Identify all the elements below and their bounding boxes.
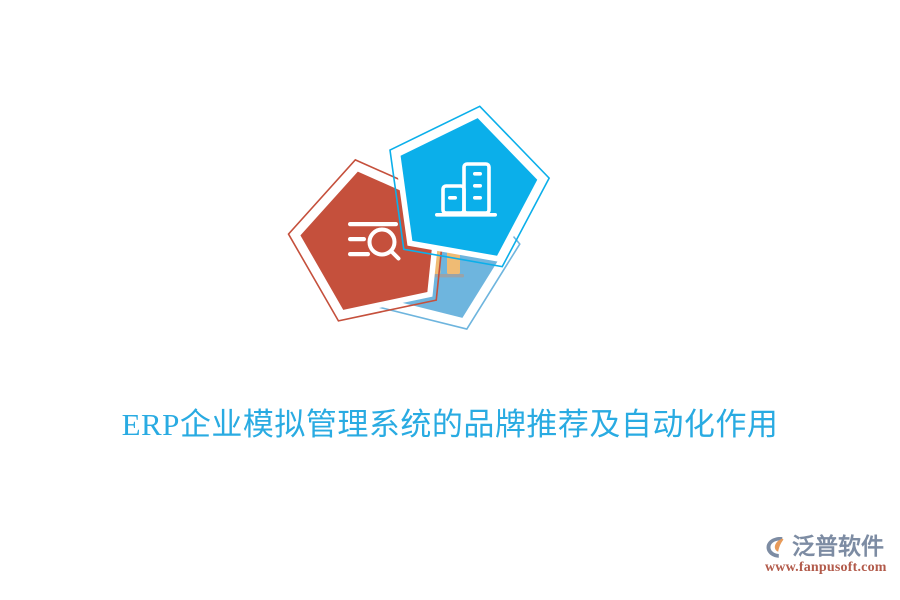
hero-graphic xyxy=(285,95,605,415)
page-canvas: ERP企业模拟管理系统的品牌推荐及自动化作用 泛普软件 www.fanpusof… xyxy=(0,0,900,600)
watermark-brand-row: 泛普软件 xyxy=(762,532,884,562)
watermark-url: www.fanpusoft.com xyxy=(765,560,887,576)
watermark-brand-name: 泛普软件 xyxy=(792,534,884,560)
page-title: ERP企业模拟管理系统的品牌推荐及自动化作用 xyxy=(0,405,900,445)
fanpu-logo-icon xyxy=(762,533,790,561)
watermark-logo: 泛普软件 www.fanpusoft.com xyxy=(762,532,892,582)
